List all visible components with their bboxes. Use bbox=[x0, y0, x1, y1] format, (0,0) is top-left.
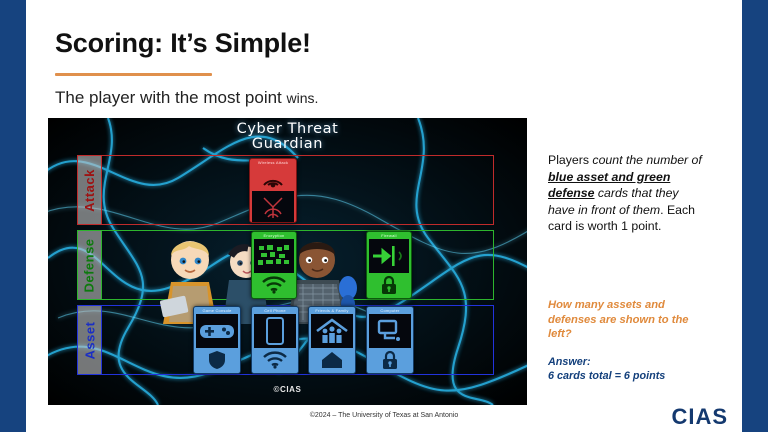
question-text: How many assets and defenses are shown t… bbox=[548, 298, 708, 342]
board-game-title: Cyber Threat Guardian bbox=[48, 122, 527, 152]
game-board-image: Cyber Threat Guardian bbox=[48, 118, 527, 405]
answer-block: Answer: 6 cards total = 6 points bbox=[548, 355, 718, 383]
asset-card-4-name: Computer bbox=[367, 307, 413, 313]
game-controller-icon bbox=[196, 314, 238, 348]
asset-card-3[interactable]: Friends & Family bbox=[308, 306, 356, 374]
encryption-icon bbox=[254, 239, 294, 273]
subtitle: The player with the most point wins. bbox=[55, 88, 318, 108]
answer-label: Answer: bbox=[548, 355, 718, 369]
shield-icon bbox=[194, 348, 240, 373]
asset-card-3-name: Friends & Family bbox=[309, 307, 355, 313]
board-game-title-line2: Guardian bbox=[48, 137, 527, 152]
copyright-notice: ©2024 – The University of Texas at San A… bbox=[0, 412, 768, 419]
explanation-part-1: Players bbox=[548, 153, 592, 167]
radar-signal-icon bbox=[250, 165, 296, 190]
cias-logo: CIAS bbox=[671, 404, 728, 430]
row-label-defense: Defense bbox=[78, 231, 102, 299]
defense-card-1[interactable]: Encryption bbox=[251, 231, 297, 299]
defense-card-2-name: Firewall bbox=[367, 232, 411, 238]
family-house-icon bbox=[311, 314, 353, 348]
title-underline-rule bbox=[55, 73, 212, 76]
subtitle-main: The player with the most point bbox=[55, 88, 282, 107]
phone-icon bbox=[254, 314, 296, 348]
left-decorative-band bbox=[0, 0, 26, 432]
lock-icon bbox=[367, 273, 411, 298]
asset-card-4[interactable]: Computer bbox=[366, 306, 414, 374]
row-label-attack-text: Attack bbox=[82, 169, 97, 212]
row-label-asset: Asset bbox=[78, 306, 102, 374]
lock-icon bbox=[367, 348, 413, 373]
wifi-icon bbox=[252, 348, 298, 373]
explanation-text: Players count the number of blue asset a… bbox=[548, 152, 703, 235]
board-game-title-line1: Cyber Threat bbox=[48, 122, 527, 137]
asset-card-2-name: Cell Phone bbox=[252, 307, 298, 313]
computer-icon bbox=[369, 314, 411, 348]
slide: Scoring: It’s Simple! The player with th… bbox=[0, 0, 768, 432]
firewall-arrow-icon bbox=[369, 239, 409, 273]
house-icon bbox=[309, 348, 355, 373]
attack-card-1-art bbox=[252, 191, 294, 222]
row-label-defense-text: Defense bbox=[82, 238, 97, 292]
row-label-attack: Attack bbox=[78, 156, 102, 224]
board-watermark: ©CIAS bbox=[48, 385, 527, 394]
explanation-part-2: count the number of bbox=[592, 153, 701, 167]
row-label-asset-text: Asset bbox=[82, 321, 97, 359]
page-title: Scoring: It’s Simple! bbox=[55, 28, 311, 59]
asset-card-1-name: Game Console bbox=[194, 307, 240, 313]
wifi-icon bbox=[252, 273, 296, 298]
answer-text: 6 cards total = 6 points bbox=[548, 369, 718, 383]
subtitle-tail: wins. bbox=[287, 90, 319, 106]
defense-card-2[interactable]: Firewall bbox=[366, 231, 412, 299]
attack-card-1[interactable]: Wireless Attack bbox=[249, 158, 297, 223]
asset-card-2[interactable]: Cell Phone bbox=[251, 306, 299, 374]
right-decorative-band bbox=[742, 0, 768, 432]
defense-card-1-name: Encryption bbox=[252, 232, 296, 238]
asset-card-1[interactable]: Game Console bbox=[193, 306, 241, 374]
